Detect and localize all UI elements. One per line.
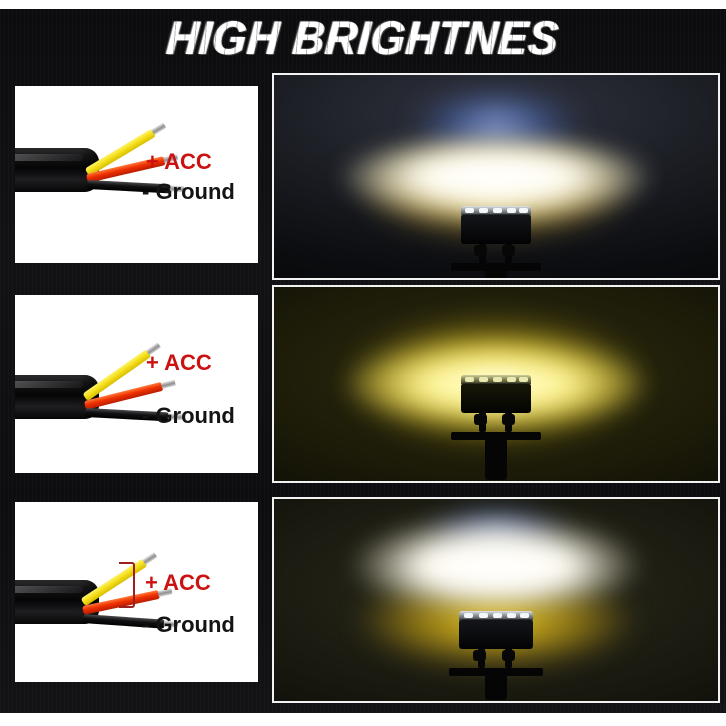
label-ground: - Ground xyxy=(142,403,235,429)
white-beam-core xyxy=(354,515,638,608)
mount-knob-right xyxy=(502,414,515,425)
combo-beam-photo xyxy=(272,497,720,703)
wire-tip xyxy=(161,380,176,389)
title-area: HIGH BRIGHTNES xyxy=(0,13,726,65)
white-beam-photo xyxy=(272,73,720,280)
row-white-mode: + ACC - Ground xyxy=(0,70,726,278)
mount-knob-right xyxy=(502,245,515,256)
label-positive-acc: + ACC xyxy=(146,149,212,175)
infographic-poster: HIGH BRIGHTNES + ACC - Ground xyxy=(0,0,726,726)
label-ground: - Ground xyxy=(142,179,235,205)
wiring-diagram-combo: + ACC - Ground xyxy=(15,502,258,682)
pod-housing xyxy=(461,214,531,244)
wire-tip xyxy=(142,552,157,565)
acc-join-bracket xyxy=(119,562,135,608)
wiring-diagram-white: + ACC - Ground xyxy=(15,86,258,263)
bottom-white-border xyxy=(0,713,726,726)
row-combo-mode: + ACC - Ground xyxy=(0,490,726,706)
page-title: HIGH BRIGHTNES xyxy=(165,13,561,63)
pod-housing xyxy=(459,619,533,649)
mount-knob-left xyxy=(474,414,487,425)
top-white-border xyxy=(0,0,726,9)
mount-stem xyxy=(485,674,507,700)
mount-stem xyxy=(485,269,507,279)
mount-knob-left xyxy=(474,245,487,256)
amber-beam-photo xyxy=(272,285,720,483)
beam-scene xyxy=(274,287,718,481)
mount-knob-right xyxy=(502,650,515,661)
wire-tip xyxy=(151,123,166,135)
mount-knob-left xyxy=(473,650,486,661)
label-ground: - Ground xyxy=(142,612,235,638)
pod-housing xyxy=(461,383,531,413)
label-positive-acc: + ACC xyxy=(146,350,212,376)
label-positive-acc: + ACC xyxy=(145,570,211,596)
mount-stem xyxy=(485,438,507,480)
beam-scene xyxy=(274,499,718,701)
beam-scene xyxy=(274,75,718,278)
row-amber-mode: + ACC - Ground xyxy=(0,285,726,485)
wiring-diagram-amber: + ACC - Ground xyxy=(15,295,258,473)
